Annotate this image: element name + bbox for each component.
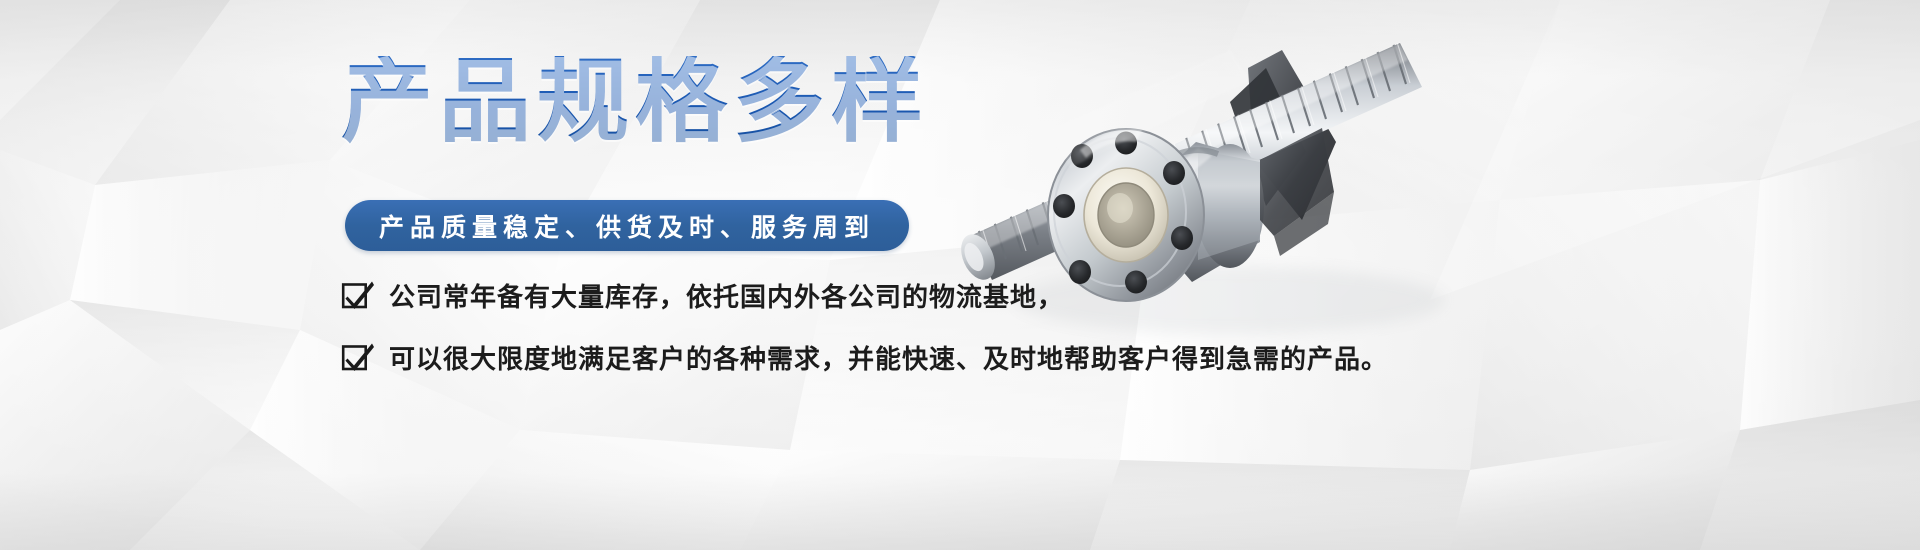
banner-content: 产品规格多样 产品质量稳定、供货及时、服务周到 公司常年备有大量库存，依托国内外… <box>0 0 1920 550</box>
checkbox-checked-icon <box>341 340 375 374</box>
page-title: 产品规格多样 <box>341 56 929 148</box>
slogan-badge-label: 产品质量稳定、供货及时、服务周到 <box>379 208 875 244</box>
slogan-badge: 产品质量稳定、供货及时、服务周到 <box>345 200 909 251</box>
product-spec-banner: 产品规格多样 产品质量稳定、供货及时、服务周到 公司常年备有大量库存，依托国内外… <box>0 0 1920 550</box>
list-item-label: 可以很大限度地满足客户的各种需求，并能快速、及时地帮助客户得到急需的产品。 <box>389 339 1388 376</box>
list-item: 可以很大限度地满足客户的各种需求，并能快速、及时地帮助客户得到急需的产品。 <box>341 328 1641 386</box>
checkbox-checked-icon <box>341 278 375 312</box>
list-item-label: 公司常年备有大量库存，依托国内外各公司的物流基地， <box>389 277 1064 314</box>
feature-list: 公司常年备有大量库存，依托国内外各公司的物流基地， 可以很大限度地满足客户的各种… <box>341 266 1641 386</box>
list-item: 公司常年备有大量库存，依托国内外各公司的物流基地， <box>341 266 1641 324</box>
